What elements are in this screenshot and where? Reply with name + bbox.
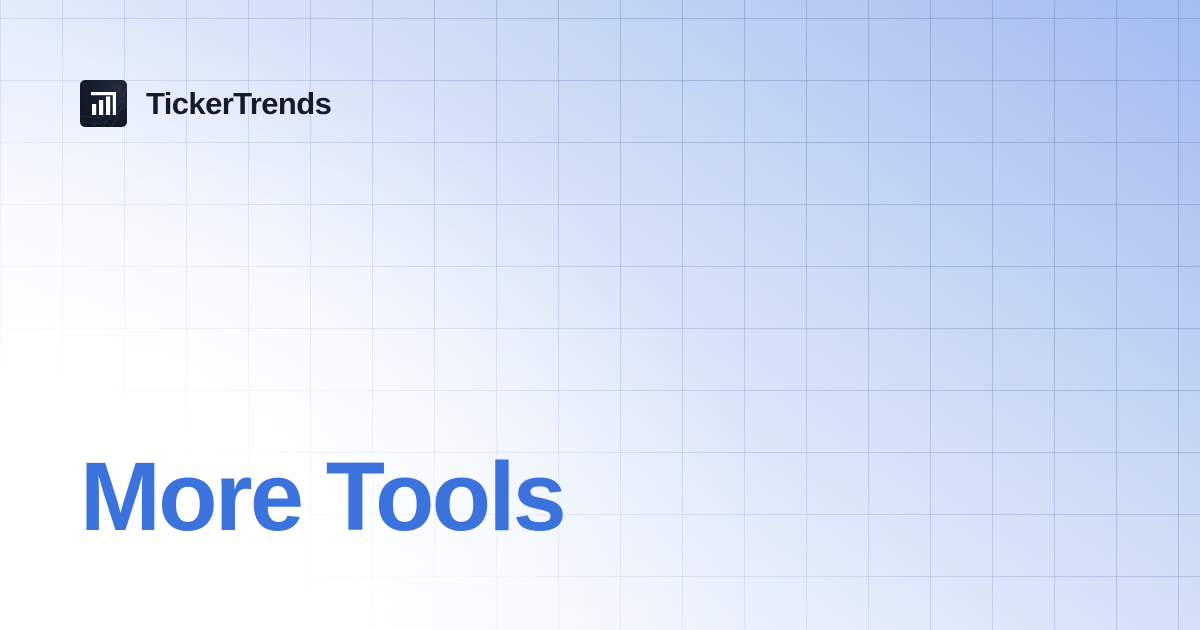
open-graph-card: TickerTrends More Tools bbox=[0, 0, 1200, 630]
brand-lockup[interactable]: TickerTrends bbox=[80, 80, 331, 127]
brand-logo-badge bbox=[80, 80, 127, 127]
brand-name: TickerTrends bbox=[146, 88, 331, 119]
bar-chart-icon bbox=[80, 80, 127, 127]
page-title: More Tools bbox=[80, 448, 564, 545]
